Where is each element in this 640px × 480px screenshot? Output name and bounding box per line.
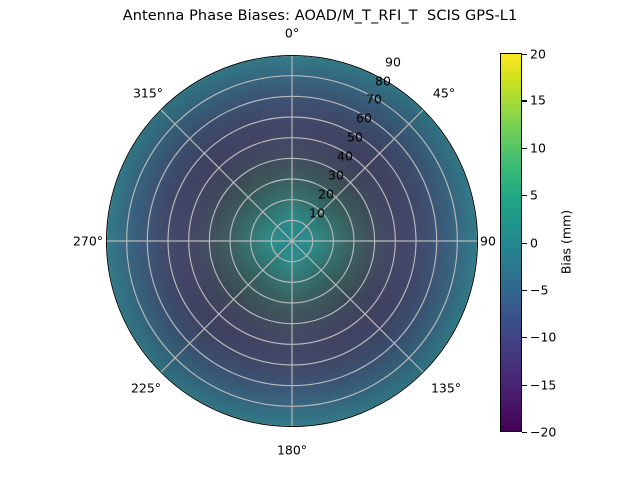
radial-tick-10: 10 (309, 206, 325, 221)
chart-title: Antenna Phase Biases: AOAD/M_T_RFI_T SCI… (0, 8, 640, 24)
colorbar-tick-label-m15: −15 (530, 377, 556, 392)
colorbar-tick-mark (522, 290, 527, 291)
angular-tick-135: 135° (431, 381, 461, 396)
radial-tick-60: 60 (356, 111, 372, 126)
colorbar-tick-mark (522, 432, 527, 433)
radial-tick-50: 50 (347, 130, 363, 145)
colorbar-tick-mark (522, 54, 527, 55)
radial-tick-20: 20 (318, 187, 334, 202)
polar-axes[interactable]: 0° 45° 90 135° 180° 225° 270° 315° 10 20… (106, 55, 478, 427)
angular-tick-315: 315° (133, 86, 163, 101)
radial-tick-80: 80 (375, 74, 391, 89)
angular-tick-225: 225° (131, 381, 161, 396)
angular-tick-0: 0° (285, 26, 299, 41)
colorbar-tick-mark (522, 148, 527, 149)
colorbar-tick-label-m10: −10 (530, 330, 556, 345)
polar-grid (106, 55, 478, 427)
angular-tick-270: 270° (73, 234, 103, 249)
colorbar-tick-mark (522, 337, 527, 338)
colorbar-tick-label-10: 10 (530, 140, 546, 155)
colorbar-tick-label-20: 20 (530, 46, 546, 61)
colorbar-tick-mark (522, 195, 527, 196)
angular-tick-180: 180° (277, 443, 307, 458)
colorbar-tick-label-5: 5 (530, 188, 538, 203)
colorbar-axis-label: Bias (mm) (559, 210, 574, 274)
colorbar-gradient (500, 53, 522, 432)
radial-tick-70: 70 (366, 92, 382, 107)
radial-tick-30: 30 (328, 168, 344, 183)
angular-tick-90: 90 (480, 234, 496, 249)
colorbar-tick-label-15: 15 (530, 93, 546, 108)
colorbar-tick-label-m5: −5 (530, 282, 548, 297)
colorbar[interactable]: 20 15 10 5 0 −5 −10 −15 −20 (500, 53, 522, 432)
angular-tick-45: 45° (433, 86, 455, 101)
colorbar-tick-mark (522, 385, 527, 386)
colorbar-tick-label-m20: −20 (530, 424, 556, 439)
radial-tick-40: 40 (337, 149, 353, 164)
figure-canvas: Antenna Phase Biases: AOAD/M_T_RFI_T SCI… (0, 0, 640, 480)
colorbar-tick-mark (522, 100, 527, 101)
colorbar-tick-label-0: 0 (530, 235, 538, 250)
radial-tick-90: 90 (385, 55, 401, 70)
colorbar-tick-mark (522, 243, 527, 244)
